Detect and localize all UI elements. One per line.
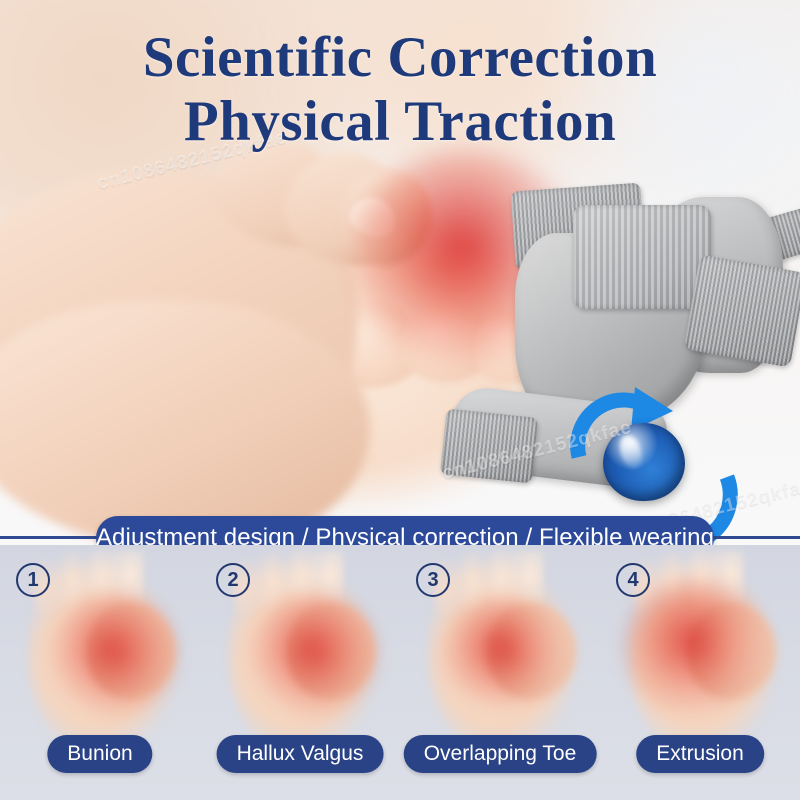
pain-glow-indicator [444, 597, 564, 709]
hero-photo: cn1086482152qkfae cn1086482152qkfae cn10… [0, 0, 800, 545]
condition-number-badge: 3 [416, 563, 450, 597]
condition-label: Bunion [47, 735, 152, 773]
pain-glow-indicator [52, 593, 180, 717]
condition-number-badge: 1 [16, 563, 50, 597]
page-title: Scientific Correction Physical Traction [0, 26, 800, 155]
condition-number-badge: 2 [216, 563, 250, 597]
headline-line-2: Physical Traction [0, 90, 800, 154]
condition-card-bunion[interactable]: 1 cn1086482152qkfae Bunion [0, 545, 200, 800]
condition-label: Hallux Valgus [217, 735, 384, 773]
condition-card-overlapping-toe[interactable]: 3 cn1086482152qkfae Overlapping Toe [400, 545, 600, 800]
bunion-corrector-brace [455, 185, 800, 530]
velcro-strap [683, 254, 800, 367]
velcro-strap [440, 408, 538, 483]
condition-label: Extrusion [636, 735, 764, 773]
condition-card-hallux-valgus[interactable]: 2 cn1086482152qkfae Hallux Valgus [200, 545, 400, 800]
conditions-card-list: 1 cn1086482152qkfae Bunion 2 cn108648215… [0, 545, 800, 800]
headline-line-1: Scientific Correction [143, 26, 657, 89]
pain-glow-indicator [622, 579, 768, 715]
condition-label: Overlapping Toe [404, 735, 597, 773]
velcro-strap [573, 205, 711, 309]
condition-number-badge: 4 [616, 563, 650, 597]
blue-adjustment-knob[interactable] [603, 423, 685, 501]
pain-glow-indicator [252, 593, 380, 717]
conditions-panel: 1 cn1086482152qkfae Bunion 2 cn108648215… [0, 545, 800, 800]
product-poster: cn1086482152qkfae cn1086482152qkfae cn10… [0, 0, 800, 800]
condition-card-extrusion[interactable]: 4 cn1086482152qkfae Extrusion [600, 545, 800, 800]
